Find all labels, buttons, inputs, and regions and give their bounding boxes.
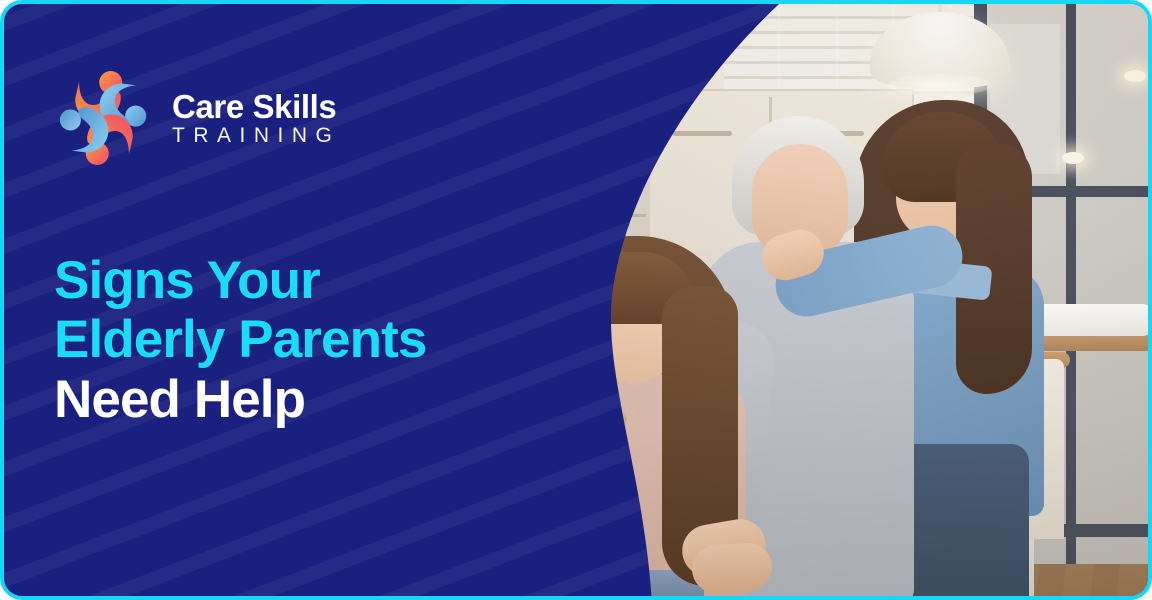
headline-line-1: Signs Your xyxy=(54,251,426,310)
page-title: Signs Your Elderly Parents Need Help xyxy=(54,251,426,429)
headline-line-3: Need Help xyxy=(54,370,426,429)
pinwheel-people-logo-icon xyxy=(56,66,152,170)
brand-name: Care Skills xyxy=(172,90,340,123)
brand-tagline: TRAINING xyxy=(172,125,340,146)
headline-line-2: Elderly Parents xyxy=(54,310,426,369)
brand-logo[interactable]: Care Skills TRAINING xyxy=(56,66,340,170)
promotional-banner: Care Skills TRAINING Signs Your Elderly … xyxy=(0,0,1152,600)
